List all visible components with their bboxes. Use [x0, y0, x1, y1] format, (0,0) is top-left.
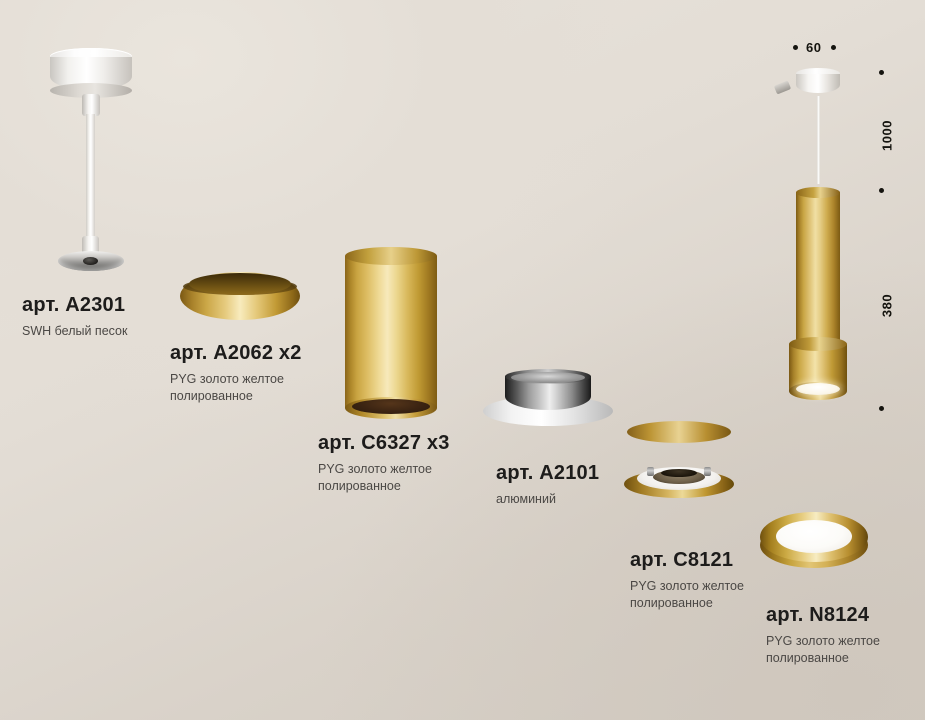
product-diagram-canvas: арт. A2301 SWH белый песок арт. A2062 x2… [0, 0, 925, 720]
dimension-arrow-mid [879, 188, 884, 193]
n8124-diffuser-lens [776, 520, 852, 553]
pendant-cord [817, 96, 820, 184]
dimension-arrow-bottom [879, 406, 884, 411]
pendant-cap-clip [774, 81, 791, 95]
assembled-pendant-image [0, 0, 925, 720]
pendant-head-top [789, 337, 847, 351]
pendant-head [789, 344, 847, 391]
dimension-drop-value: 1000 [880, 114, 895, 158]
pendant-tube [796, 192, 840, 344]
dimension-arrow-left [793, 45, 798, 50]
pendant-cap-body [796, 74, 840, 93]
pendant-tube-assembly [796, 192, 840, 344]
pendant-diffuser-lens [796, 383, 840, 395]
dimension-width-value: 60 [806, 40, 821, 55]
pendant-tube-top [796, 187, 840, 198]
dimension-arrow-right [831, 45, 836, 50]
dimension-arrow-top [879, 70, 884, 75]
dimension-length-value: 380 [880, 288, 895, 324]
pendant-head-assembly [789, 344, 847, 391]
